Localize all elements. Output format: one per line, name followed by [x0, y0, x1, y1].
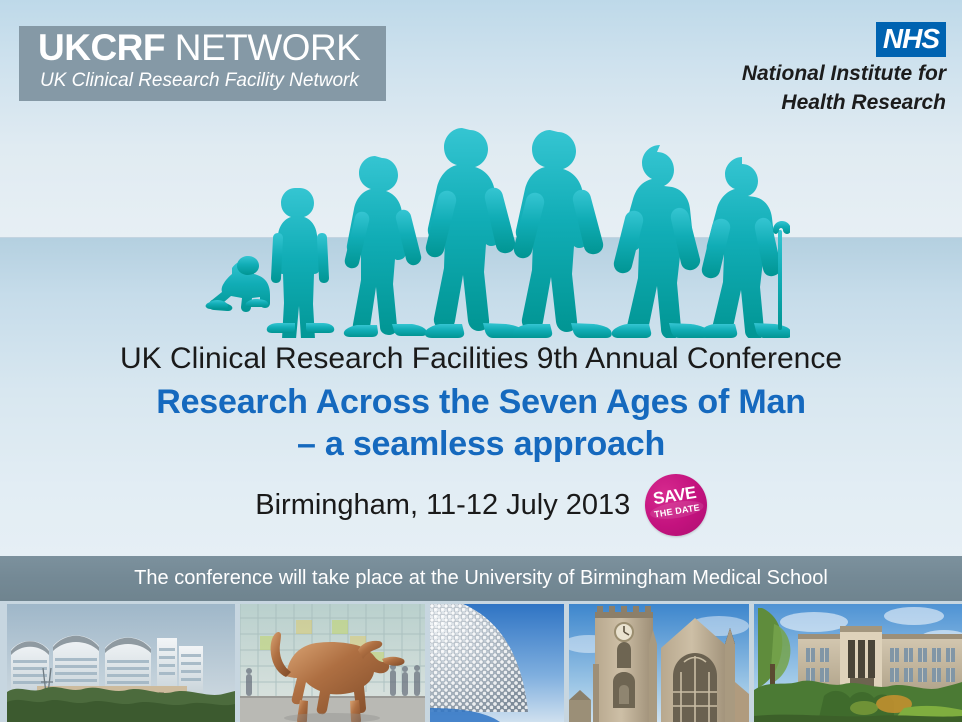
photo-bullring-bronze-bull-statue: [240, 604, 425, 722]
figure-stooping-older-man: [612, 145, 709, 338]
ukcrf-logo-subtitle: UK Clinical Research Facility Network: [40, 69, 359, 93]
figure-elderly-man-with-cane: [700, 157, 790, 338]
seven-ages-of-man-illustration: [170, 118, 790, 338]
venue-text: The conference will take place at the Un…: [0, 556, 962, 601]
conference-theme-line-1: Research Across the Seven Ages of Man: [0, 381, 962, 423]
save-the-date-sticker: SAVE THE DATE: [640, 470, 711, 541]
photo-selfridges-bullring-facade: [430, 604, 564, 722]
conference-save-the-date-poster: UKCRF NETWORK UK Clinical Research Facil…: [0, 0, 962, 722]
sticker-line-1: SAVE: [642, 482, 706, 509]
photo-birmingham-cathedral-church: [569, 604, 749, 722]
figure-toddler: [267, 188, 335, 338]
date-and-sticker-row: Birmingham, 11-12 July 2013 SAVE THE DAT…: [255, 474, 707, 536]
headline-block: UK Clinical Research Facilities 9th Annu…: [0, 340, 962, 536]
ukcrf-logo-acronym: UKCRF NETWORK: [38, 28, 360, 68]
conference-date-location: Birmingham, 11-12 July 2013: [255, 486, 630, 524]
photo-queen-elizabeth-hospital-birmingham: [7, 604, 235, 722]
figure-adult-man: [513, 130, 612, 338]
photo-strip: [0, 601, 962, 722]
nihr-line-2: Health Research: [742, 90, 946, 115]
ukcrf-logo-acronym-light: NETWORK: [165, 27, 360, 68]
nhs-nihr-logo: NHS National Institute for Health Resear…: [742, 22, 946, 115]
figure-youth: [344, 156, 427, 337]
ukcrf-logo-acronym-bold: UKCRF: [38, 27, 165, 68]
conference-theme-line-2: – a seamless approach: [0, 423, 962, 465]
conference-name: UK Clinical Research Facilities 9th Annu…: [0, 340, 962, 378]
photo-university-of-birmingham-building: [754, 604, 962, 722]
figure-young-adult-man: [425, 128, 524, 338]
figure-crawling-baby: [206, 256, 270, 312]
ukcrf-network-logo: UKCRF NETWORK UK Clinical Research Facil…: [19, 26, 386, 101]
nhs-badge: NHS: [876, 22, 946, 57]
nihr-line-1: National Institute for: [742, 61, 946, 86]
venue-banner: The conference will take place at the Un…: [0, 556, 962, 601]
